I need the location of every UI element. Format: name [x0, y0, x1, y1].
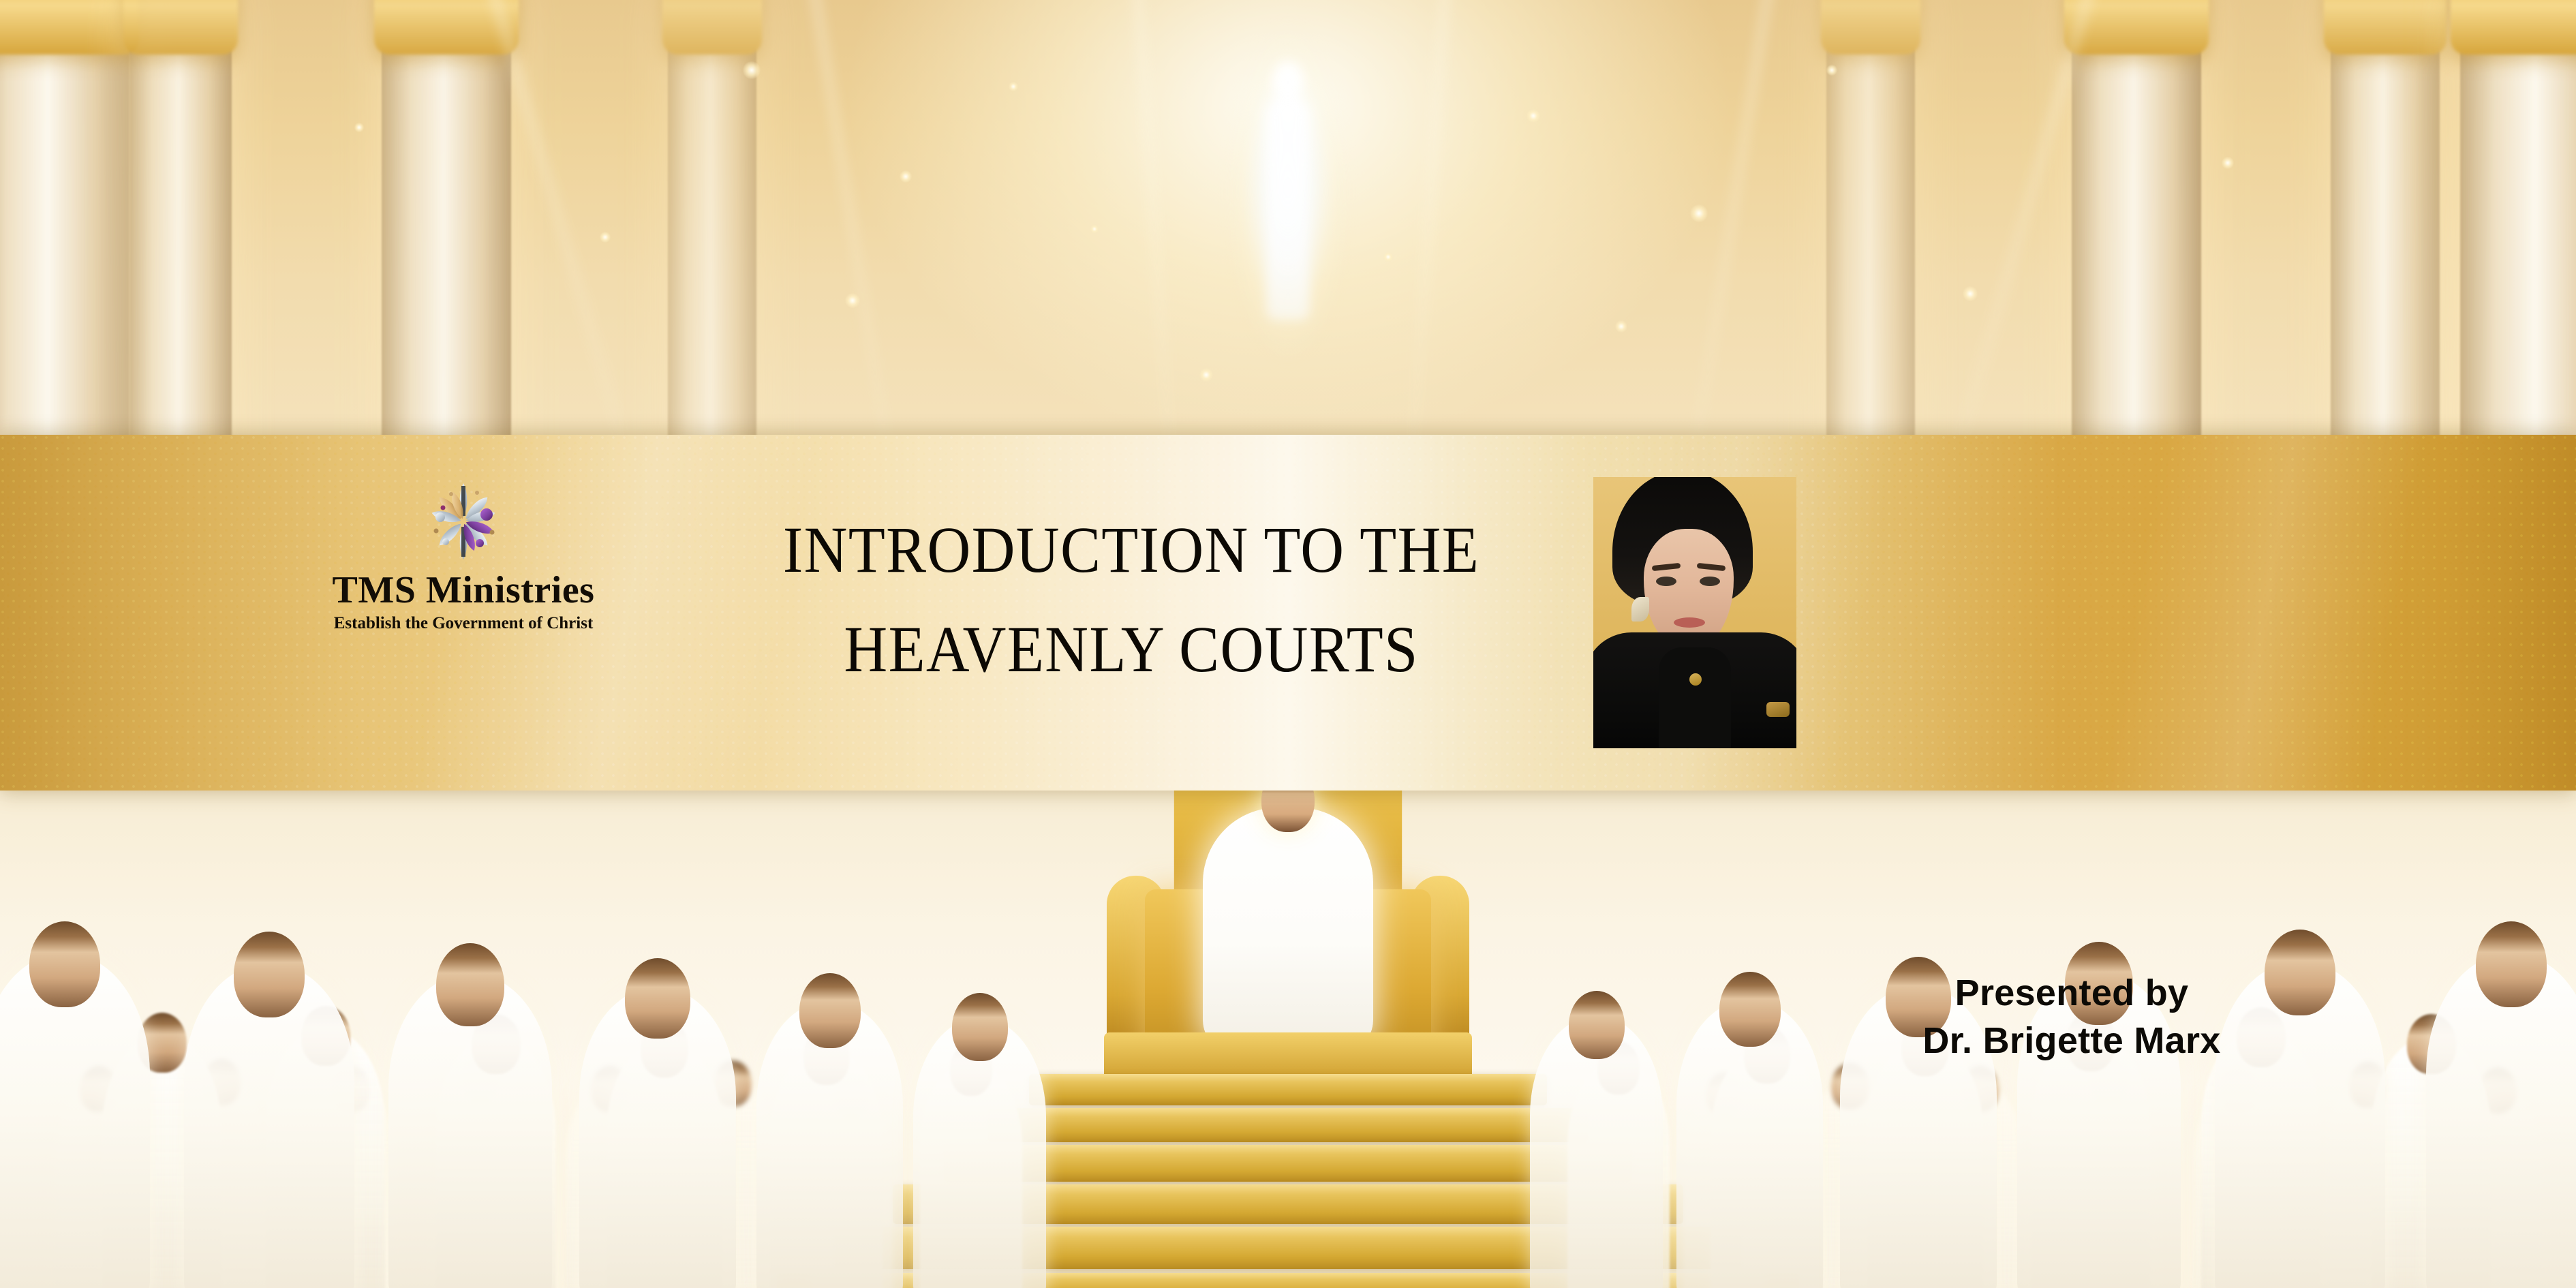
crowd-figure: [579, 988, 736, 1288]
title-line-1: INTRODUCTION TO THE: [718, 500, 1545, 600]
presenter-photo: [1593, 477, 1796, 748]
logo-name: TMS Ministries: [300, 571, 627, 609]
logo-block[interactable]: TMS Ministries Establish the Government …: [300, 477, 627, 633]
crowd-figure: [913, 1019, 1046, 1288]
crowd-figure: [1676, 1000, 1823, 1288]
sparkle: [1963, 286, 1978, 301]
portrait-necklace: [1689, 673, 1702, 686]
crowd-figure: [1530, 1017, 1663, 1288]
crowd-figure: [0, 954, 150, 1288]
portrait-eye-right: [1700, 577, 1720, 586]
poster-canvas: TMS Ministries Establish the Government …: [0, 0, 2576, 1288]
crowd-figure: [756, 1002, 903, 1288]
presenter-name: Dr. Brigette Marx: [1833, 1017, 2310, 1064]
crowd-figure: [184, 964, 354, 1288]
page-title: INTRODUCTION TO THE HEAVENLY COURTS: [681, 500, 1581, 699]
tms-snowflake-emblem-icon: [419, 477, 508, 566]
divine-light-figure: [1210, 14, 1366, 436]
crowd-figure: [2426, 954, 2576, 1288]
portrait-watch: [1766, 702, 1790, 717]
sparkle: [900, 170, 912, 183]
sparkle: [1690, 204, 1708, 222]
portrait-lips: [1674, 617, 1705, 628]
sparkle: [1199, 368, 1213, 382]
sparkle: [1826, 65, 1837, 76]
sparkle: [1009, 82, 1018, 91]
sparkle: [1090, 225, 1099, 233]
sparkle: [743, 61, 761, 79]
gold-banner: TMS Ministries Establish the Government …: [0, 435, 2576, 791]
sparkle: [354, 123, 364, 132]
crowd-figure: [388, 975, 552, 1288]
portrait-earring: [1631, 597, 1649, 622]
presented-by-label: Presented by: [1833, 969, 2310, 1017]
title-line-2: HEAVENLY COURTS: [718, 600, 1545, 699]
sparkle: [1527, 109, 1540, 123]
portrait-eye-left: [1656, 577, 1676, 586]
sparkle: [1615, 320, 1627, 333]
portrait-inner-top: [1659, 647, 1731, 748]
sparkle: [845, 293, 860, 308]
sparkle: [2222, 157, 2234, 169]
sparkle: [1383, 252, 1393, 262]
sparkle: [600, 232, 611, 243]
logo-tagline: Establish the Government of Christ: [300, 614, 627, 633]
presenter-block: Presented by Dr. Brigette Marx: [1833, 969, 2310, 1064]
divine-body: [1266, 95, 1310, 320]
